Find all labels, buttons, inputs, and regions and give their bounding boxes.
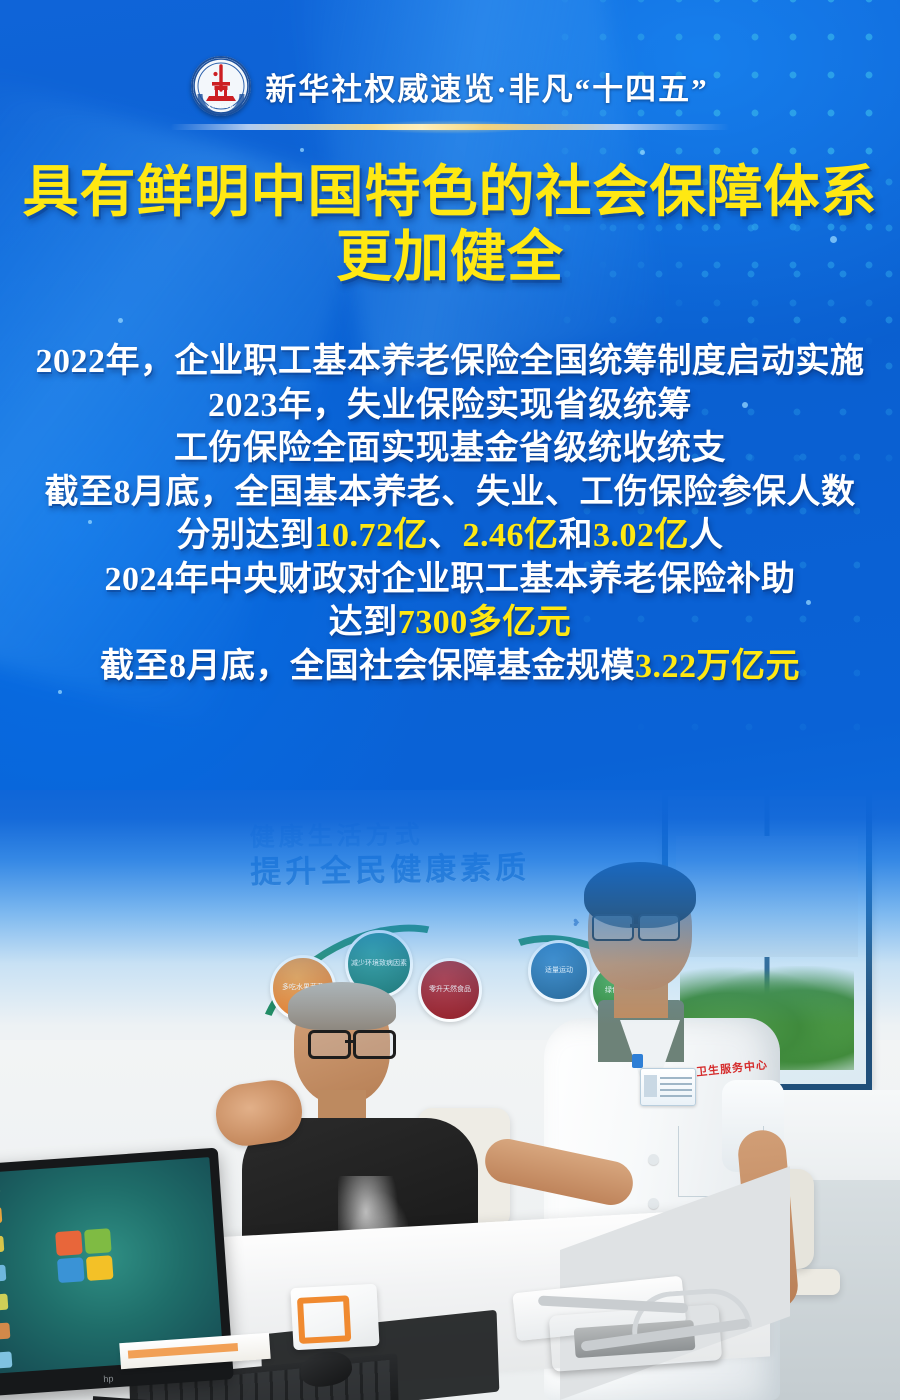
sparkle-dot: [640, 150, 645, 155]
statistic-text: 、: [428, 517, 463, 554]
desktop-icon: [0, 1294, 8, 1311]
statistic-text: 工伤保险全面实现基金省级统收统支: [174, 430, 726, 467]
desktop-icon: [0, 1207, 2, 1224]
brand-header: XINHUA 新华社权威速览·非凡“十四五”: [0, 56, 900, 116]
patient-glasses-icon: [308, 1030, 396, 1054]
xinhua-emblem-icon: XINHUA: [191, 56, 251, 116]
statistic-text: 2022年，企业职工基本养老保险全国统筹制度启动实施: [36, 343, 865, 380]
statistic-line: 分别达到10.72亿、2.46亿和3.02亿人: [24, 514, 876, 558]
page-title: 具有鲜明中国特色的社会保障体系 更加健全: [0, 160, 900, 290]
statistic-line: 达到7300多亿元: [24, 601, 876, 645]
statistic-text: 2023年，失业保险实现省级统筹: [208, 387, 692, 424]
statistic-text: 人: [689, 517, 724, 554]
statistic-text: 截至8月底，全国基本养老、失业、工伤保险参保人数: [45, 474, 856, 511]
desktop-icon: [0, 1351, 12, 1368]
coat-button: [648, 1154, 659, 1165]
highlighted-figure: 3.22万亿元: [635, 648, 800, 685]
windows-logo-icon: [55, 1228, 117, 1286]
sparkle-dot: [300, 148, 304, 152]
title-line-2: 更加健全: [0, 225, 900, 290]
statistic-line: 2023年，失业保险实现省级统筹: [24, 384, 876, 428]
header-divider: [170, 124, 730, 130]
statistics-text-block: 2022年，企业职工基本养老保险全国统筹制度启动实施2023年，失业保险实现省级…: [0, 340, 900, 688]
statistic-text: 达到: [329, 604, 398, 641]
photo-content: 健康生活方式 提升全民健康素质 ❥ ❥ ❥ 多吃水果蔬菜 减少环境致病因素 零升…: [0, 790, 900, 1400]
blood-pressure-monitor: [537, 1281, 733, 1380]
doctor-lapel-pin-icon: [632, 1054, 643, 1068]
wall-slogan-main: 提升全民健康素质: [250, 850, 531, 890]
statistic-line: 截至8月底，全国社会保障基金规模3.22万亿元: [24, 645, 876, 689]
statistic-line: 截至8月底，全国基本养老、失业、工伤保险参保人数: [24, 471, 876, 515]
statistic-text: 和: [559, 517, 594, 554]
sparkle-dot: [118, 318, 123, 323]
statistic-text: 2024年中央财政对企业职工基本养老保险补助: [105, 561, 796, 598]
highlighted-figure: 10.72亿: [315, 517, 429, 554]
wall-slogan-faded: 健康生活方式: [249, 817, 579, 854]
statistic-line: 2022年，企业职工基本养老保险全国统筹制度启动实施: [24, 340, 876, 384]
statistic-line: 2024年中央财政对企业职工基本养老保险补助: [24, 558, 876, 602]
circle-label: 减少环境致病因素: [351, 960, 407, 968]
statistic-text: 截至8月底，全国社会保障基金规模: [100, 648, 635, 685]
statistic-line: 工伤保险全面实现基金省级统收统支: [24, 427, 876, 471]
desk-device-box: [290, 1284, 379, 1350]
highlighted-figure: 3.02亿: [593, 517, 689, 554]
svg-text:XINHUA: XINHUA: [208, 104, 235, 110]
highlighted-figure: 2.46亿: [463, 517, 559, 554]
desktop-icon: [0, 1265, 6, 1282]
title-line-1: 具有鲜明中国特色的社会保障体系: [0, 160, 900, 225]
brand-headline: 新华社权威速览·非凡“十四五”: [265, 64, 708, 109]
desktop-icon: [0, 1323, 10, 1340]
doctor-id-badge: [640, 1068, 696, 1106]
desktop-icons: [0, 1177, 21, 1373]
monitor-brand-label: hp: [103, 1373, 114, 1384]
wall-slogan: 健康生活方式 提升全民健康素质: [249, 817, 580, 893]
sparkle-dot: [58, 690, 62, 694]
statistic-text: 分别达到: [177, 517, 315, 554]
photograph-clinic-scene: 健康生活方式 提升全民健康素质 ❥ ❥ ❥ 多吃水果蔬菜 减少环境致病因素 零升…: [0, 790, 900, 1400]
patient-hair: [288, 982, 396, 1030]
highlighted-figure: 7300多亿元: [398, 604, 572, 641]
poster-root: XINHUA 新华社权威速览·非凡“十四五” 具有鲜明中国特色的社会保障体系 更…: [0, 0, 900, 1400]
doctor-glasses-icon: [592, 914, 684, 938]
desktop-icon: [0, 1236, 4, 1253]
coat-button: [648, 1198, 659, 1209]
